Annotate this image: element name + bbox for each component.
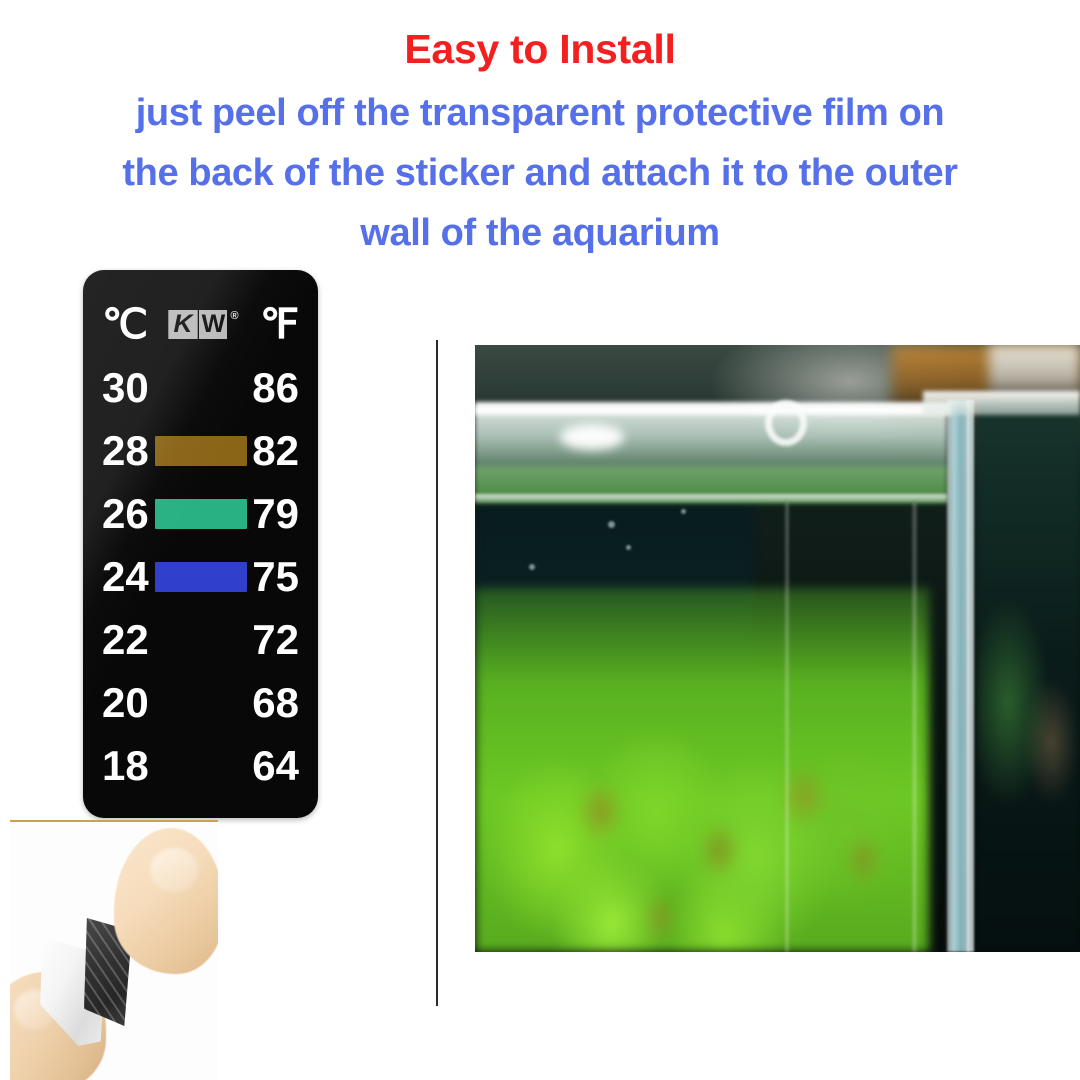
page-title: Easy to Install [0, 0, 1080, 70]
fahrenheit-value: 68 [252, 682, 299, 724]
fahrenheit-value: 79 [252, 493, 299, 535]
glass-corner-highlight [967, 400, 974, 952]
glass-glare-highlight [560, 424, 624, 450]
celsius-value: 20 [102, 682, 149, 724]
temperature-scale-large: 30 86 28 82 26 79 24 75 22 [102, 356, 299, 798]
celsius-value: 18 [102, 745, 149, 787]
celsius-value: 28 [102, 430, 149, 472]
color-indicator-bar [155, 562, 247, 592]
fahrenheit-value: 86 [252, 367, 299, 409]
bubble-icon [681, 509, 686, 514]
bubble-icon [529, 564, 535, 570]
brand-letter-k-icon: K [169, 310, 198, 339]
instruction-line-2: the back of the sticker and attach it to… [22, 143, 1058, 203]
table-row: 24 75 [102, 545, 299, 608]
instruction-text: just peel off the transparent protective… [0, 83, 1080, 263]
color-indicator-bar [155, 373, 247, 403]
header-text-block: Easy to Install just peel off the transp… [0, 0, 1080, 263]
filter-hose-loop [765, 400, 807, 446]
celsius-unit-label: ℃ [102, 304, 148, 345]
color-indicator-bar [155, 751, 247, 781]
celsius-value: 30 [102, 367, 149, 409]
celsius-value: 26 [102, 493, 149, 535]
brand-letter-w-icon: W [199, 310, 227, 339]
peel-film-photo [10, 820, 218, 1080]
section-divider [436, 340, 438, 1006]
kw-brand-logo: K W ® [169, 310, 238, 339]
fahrenheit-value: 64 [252, 745, 299, 787]
fahrenheit-value: 75 [252, 556, 299, 598]
table-row: 18 64 [102, 735, 299, 798]
table-row: 30 86 [102, 356, 299, 419]
fingernail-upper [150, 848, 198, 892]
thermometer-header-large: ℃ K W ® ℉ [102, 296, 299, 352]
fahrenheit-unit-label: ℉ [260, 304, 299, 345]
table-row: 28 82 [102, 419, 299, 482]
plant-tips [499, 709, 923, 952]
registered-trademark-icon: ® [230, 311, 238, 322]
color-indicator-bar [155, 625, 247, 655]
tank-side-panel [977, 400, 1080, 952]
waterline [475, 494, 947, 504]
tank-rim [475, 406, 947, 494]
glass-seam [911, 503, 918, 952]
glass-corner-pillar [947, 400, 969, 952]
aquarium-photo: ℃ K W ® ℉ 30 86 28 82 [475, 345, 1080, 952]
color-indicator-bar [155, 499, 247, 529]
tank-rim-right [923, 391, 1080, 415]
table-row: 26 79 [102, 482, 299, 545]
instruction-line-1: just peel off the transparent protective… [22, 83, 1058, 143]
fahrenheit-value: 82 [252, 430, 299, 472]
celsius-value: 22 [102, 619, 149, 661]
fahrenheit-value: 72 [252, 619, 299, 661]
instruction-line-3: wall of the aquarium [22, 203, 1058, 263]
celsius-value: 24 [102, 556, 149, 598]
color-indicator-bar [155, 436, 247, 466]
table-row: 20 68 [102, 672, 299, 735]
color-indicator-bar [155, 688, 247, 718]
thermometer-sticker-large: ℃ K W ® ℉ 30 86 28 82 26 79 [83, 270, 318, 818]
tank-rim-top-edge [475, 402, 953, 415]
glass-seam [784, 503, 790, 952]
table-row: 22 72 [102, 609, 299, 672]
